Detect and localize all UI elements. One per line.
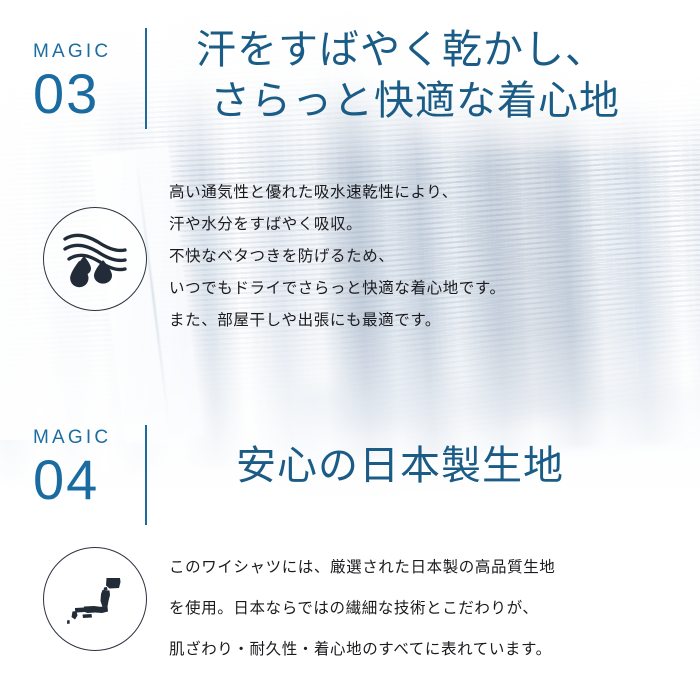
magic-label-04: MAGIC [33,428,111,447]
headline-03: 汗をすばやく乾かし、 さらっと快適な着心地 [196,24,620,126]
body-text-04: このワイシャツには、厳選された日本製の高品質生地 を使用。日本ならではの繊細な技… [169,547,555,670]
water-drops-wave-icon-circle [43,207,147,311]
magic-label-03: MAGIC [33,42,111,61]
body-04-line-1: このワイシャツには、厳選された日本製の高品質生地 [169,547,555,588]
headline-03-line2: さらっと快適な着心地 [210,75,620,126]
divider-03 [145,28,147,129]
magic-badge-03: MAGIC 03 [33,42,111,124]
promo-page: MAGIC 03 汗をすばやく乾かし、 さらっと快適な着心地 高い通気性と優れた… [0,0,700,700]
body-text-03: 高い通気性と優れた吸水速乾性により、 汗や水分をすばやく吸収。 不快なベタつきを… [169,177,506,337]
headline-04: 安心の日本製生地 [236,440,564,491]
body-03-line-5: また、部屋干しや出張にも最適です。 [169,305,506,337]
divider-04 [145,425,147,525]
japan-map-icon [64,568,126,630]
water-drops-wave-icon [62,230,128,288]
magic-number-04: 04 [33,451,111,510]
magic-badge-04: MAGIC 04 [33,428,111,510]
magic-number-03: 03 [33,65,111,124]
body-03-line-3: 不快なベタつきを防げるため、 [169,241,506,273]
body-03-line-2: 汗や水分をすばやく吸収。 [169,209,506,241]
headline-04-line1: 安心の日本製生地 [236,440,564,491]
japan-map-icon-circle [43,547,147,651]
content-layer: MAGIC 03 汗をすばやく乾かし、 さらっと快適な着心地 高い通気性と優れた… [0,0,700,700]
headline-03-line1: 汗をすばやく乾かし、 [196,24,620,75]
body-04-line-3: 肌ざわり・耐久性・着心地のすべてに表れています。 [169,629,555,670]
body-03-line-4: いつでもドライでさらっと快適な着心地です。 [169,273,506,305]
body-04-line-2: を使用。日本ならではの繊細な技術とこだわりが、 [169,588,555,629]
body-03-line-1: 高い通気性と優れた吸水速乾性により、 [169,177,506,209]
